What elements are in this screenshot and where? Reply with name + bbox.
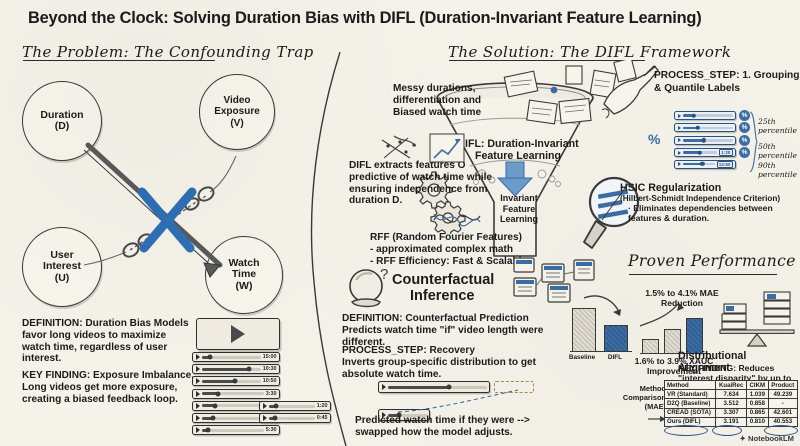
right-panel-heading: The Solution: The DIFL Framework — [448, 43, 731, 61]
play-icon — [678, 114, 681, 118]
video-progress-track[interactable] — [202, 404, 264, 407]
play-icon — [678, 138, 681, 142]
video-row-long-0[interactable]: 15:00 — [192, 352, 280, 362]
quantile-label-2: 90th percentile — [758, 161, 800, 179]
video-progress-track[interactable] — [202, 417, 264, 420]
play-icon — [678, 151, 681, 155]
causal-edges — [60, 100, 310, 330]
table-body: VR (Standard)7.6341.03949.239D2Q (Baseli… — [665, 390, 798, 427]
play-icon — [196, 354, 200, 360]
quantile-row-0[interactable]: % — [674, 110, 750, 121]
play-icon — [196, 378, 200, 384]
watermark-label: NotebookLM — [748, 434, 794, 443]
play-icon — [196, 427, 200, 433]
left-panel-heading: The Problem: The Confounding Trap — [22, 43, 314, 61]
play-icon — [196, 403, 200, 409]
video-row-long-6[interactable]: 5:30 — [192, 425, 280, 435]
difl-explanation: DIFL extracts features O predictive of w… — [349, 160, 509, 207]
chart1-arrow — [580, 292, 628, 322]
video-progress-track[interactable] — [269, 405, 315, 408]
video-timestamp: 10:50 — [263, 378, 277, 384]
play-icon — [196, 415, 200, 421]
performance-heading: Proven Performance — [628, 252, 796, 270]
table-cell-0-0: VR (Standard) — [665, 390, 716, 399]
hsic-subtitle: (Hilbert-Schmidt Independence Criterion) — [620, 194, 800, 203]
video-row-short-0[interactable]: 1:20 — [259, 401, 331, 411]
chart1-cat-1: DIFL — [600, 354, 630, 361]
hand-drawing-icon — [600, 60, 662, 122]
table-cell-1-3: - — [768, 399, 797, 408]
infographic-canvas: Beyond the Clock: Solving Duration Bias … — [0, 0, 800, 446]
video-timestamp: 0:45 — [317, 415, 328, 421]
quantile-slider[interactable] — [674, 123, 736, 132]
left-definition: DEFINITION: Duration Bias Models favor l… — [22, 318, 192, 365]
table-cell-2-3: 42.601 — [768, 408, 797, 417]
video-timestamp: 10:30 — [263, 366, 277, 372]
hsic-bullet: · Eliminates dependencies between featur… — [620, 203, 800, 223]
counterfactual-swap-note: Predicted watch time if they were --> sw… — [355, 415, 555, 439]
video-timestamp: 5:30 — [266, 427, 277, 433]
quantile-label-1: 50th percentile — [758, 142, 800, 160]
video-row-long-2[interactable]: 10:50 — [192, 376, 280, 386]
quantile-slider[interactable]: 1:20 — [674, 148, 736, 157]
results-table: MethodKuaiRecCIKMProduct VR (Standard)7.… — [664, 380, 798, 427]
cf-def-label: DEFINITION: Counterfactual Prediction — [342, 313, 560, 325]
quantile-row-4[interactable]: 13:50 — [674, 160, 736, 169]
counterfactual-title: CounterfactualInference — [392, 272, 494, 304]
table-cell-0-3: 49.239 — [768, 390, 797, 399]
table-row[interactable]: VR (Standard)7.6341.03949.239 — [665, 390, 798, 399]
bar-0 — [642, 339, 659, 354]
quantile-row-1[interactable]: % — [674, 122, 750, 133]
chart1-cat-0: Baseline — [566, 354, 598, 361]
funnel-input-note: Messy durations, differentiation and Bia… — [393, 83, 513, 118]
video-row-short-1[interactable]: 0:45 — [259, 413, 331, 423]
table-cell-0-1: 7.634 — [716, 390, 747, 399]
bar-2 — [686, 318, 703, 354]
quantile-tag: 13:50 — [717, 161, 733, 168]
quantile-label-0: 25th percentile — [758, 117, 800, 135]
quantile-slider[interactable] — [674, 136, 736, 145]
hsic-title: HSIC Regularization — [620, 182, 800, 194]
fourier-wave-icon — [432, 206, 482, 232]
hsic-block: HSIC Regularization (Hilbert-Schmidt Ind… — [620, 182, 800, 223]
scatter-trend-sketch — [378, 132, 474, 166]
quantile-bracket — [748, 110, 758, 174]
cf-swap-arrow — [392, 388, 542, 416]
table-cell-3-1: 3.191 — [716, 417, 747, 426]
table-cell-2-0: CREAD (SOTA) — [665, 408, 716, 417]
chart2-arrow — [636, 300, 686, 330]
svg-text:?: ? — [380, 266, 388, 283]
video-progress-track[interactable] — [202, 380, 261, 383]
video-progress-track[interactable] — [202, 429, 264, 432]
video-timestamp: 1:20 — [317, 403, 328, 409]
table-cell-3-0: Ours (DIFL) — [665, 417, 716, 426]
counterfactual-process: PROCESS_STEP: Recovery Inverts group-spe… — [342, 345, 564, 380]
table-cell-0-2: 1.039 — [747, 390, 769, 399]
video-progress-track[interactable] — [269, 417, 315, 420]
play-icon — [382, 384, 386, 390]
table-cell-2-1: 3.307 — [716, 408, 747, 417]
table-col-2: CIKM — [747, 381, 769, 390]
play-icon — [263, 403, 267, 409]
play-icon — [678, 162, 681, 166]
video-row-long-3[interactable]: 3:30 — [192, 389, 280, 399]
play-icon — [196, 391, 200, 397]
performance-underline — [629, 274, 777, 275]
quantile-row-2[interactable]: % — [674, 135, 750, 146]
bar-1 — [604, 325, 628, 352]
cf-proc-label: PROCESS_STEP: Recovery — [342, 345, 564, 357]
table-cell-1-2: 0.858 — [747, 399, 769, 408]
quantile-slider[interactable] — [674, 111, 736, 120]
video-progress-track[interactable] — [202, 392, 264, 395]
table-cell-1-1: 3.512 — [716, 399, 747, 408]
table-cell-3-2: 0.810 — [747, 417, 769, 426]
play-icon — [263, 415, 267, 421]
crystal-ball-icon: ? — [344, 266, 396, 314]
table-cell-2-2: 0.865 — [747, 408, 769, 417]
page-title: Beyond the Clock: Solving Duration Bias … — [28, 9, 788, 28]
method-comparison-label: Method Comparison (MAE) — [604, 384, 666, 411]
cf-proc-body: Inverts group-specific distribution to g… — [342, 357, 564, 381]
counterfactual-definition: DEFINITION: Counterfactual Prediction Pr… — [342, 313, 560, 348]
left-key-finding: KEY FINDING: Exposure Imbalance. Long vi… — [22, 370, 198, 405]
video-timestamp: 15:00 — [263, 354, 277, 360]
video-timestamp: 3:30 — [266, 391, 277, 397]
video-player-thumbnail — [196, 318, 280, 350]
table-cell-3-3: 40.553 — [768, 417, 797, 426]
video-row-long-1[interactable]: 10:30 — [192, 364, 280, 374]
quantile-slider[interactable]: 13:50 — [674, 160, 736, 169]
percent-symbol: % — [648, 131, 660, 147]
table-cell-1-0: D2Q (Baseline) — [665, 399, 716, 408]
watermark: ✦ NotebookLM — [740, 434, 794, 443]
table-row[interactable]: CREAD (SOTA)3.3070.86542.601 — [665, 408, 798, 417]
quantile-tag: 1:20 — [719, 149, 732, 156]
table-row[interactable]: Ours (DIFL)3.1910.81040.553 — [665, 417, 798, 426]
table-row[interactable]: D2Q (Baseline)3.5120.858- — [665, 399, 798, 408]
play-icon — [196, 366, 200, 372]
results-table-wrapper: MethodKuaiRecCIKMProduct VR (Standard)7.… — [664, 380, 798, 427]
process-step-1-label: PROCESS_STEP: 1. Grouping & Quantile Lab… — [654, 70, 800, 95]
rff-title: RFF (Random Fourier Features) — [370, 232, 540, 244]
table-col-1: KuaiRec — [716, 381, 747, 390]
video-progress-track[interactable] — [202, 356, 261, 359]
play-icon — [678, 126, 681, 130]
video-progress-track[interactable] — [202, 368, 261, 371]
left-heading-underline — [23, 60, 215, 61]
play-icon — [231, 325, 245, 343]
quantile-row-3[interactable]: 1:20% — [674, 147, 750, 158]
balance-scale-icon — [718, 286, 796, 348]
table-col-3: Product — [768, 381, 797, 390]
table-header-row: MethodKuaiRecCIKMProduct — [665, 381, 798, 390]
table-col-0: Method — [665, 381, 716, 390]
notebooklm-icon: ✦ — [740, 434, 746, 443]
